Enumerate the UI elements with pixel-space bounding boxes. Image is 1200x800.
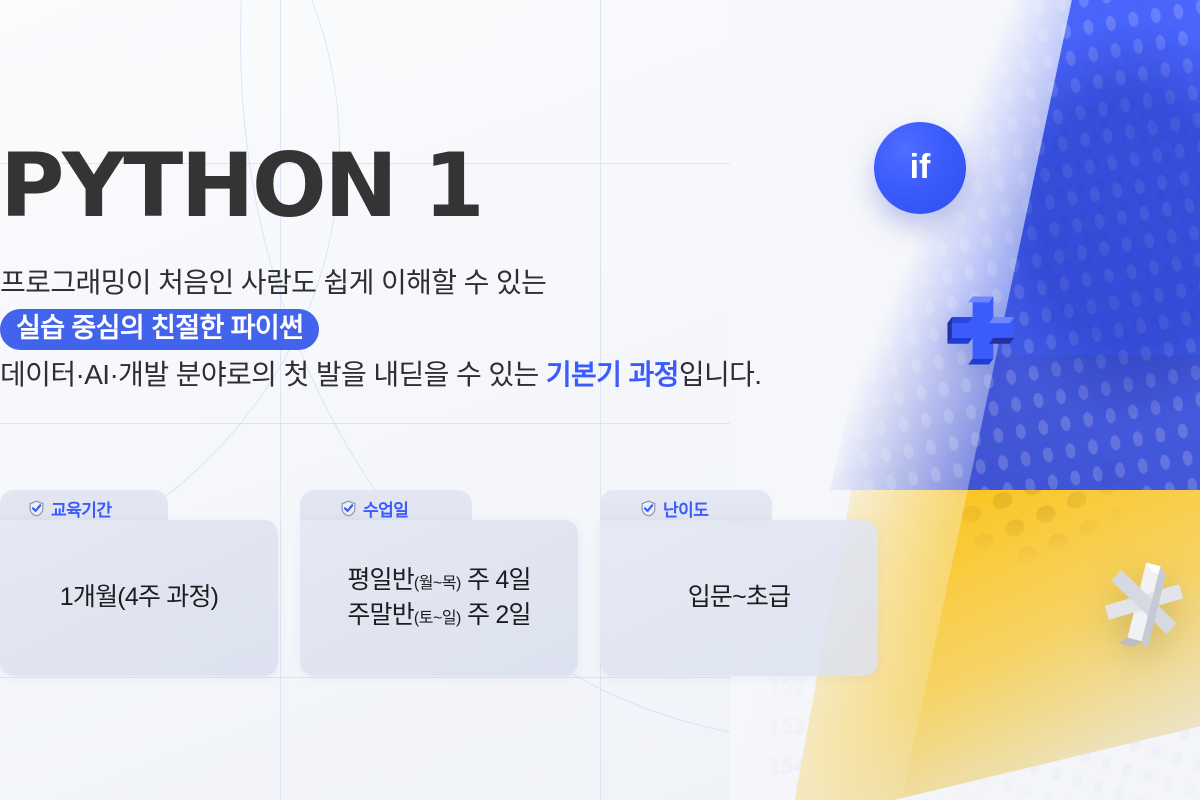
info-card-value: 1개월(4주 과정) — [60, 580, 218, 616]
asterisk-3d-icon — [1098, 556, 1190, 648]
check-badge-icon — [340, 500, 357, 517]
weekend-class-name: 주말반 — [347, 601, 414, 629]
check-badge-icon — [640, 500, 657, 517]
if-keyword-badge: if — [874, 122, 966, 214]
info-card-label: 수업일 — [363, 496, 408, 521]
info-card-classdays: 수업일 평일반(월~목) 주 4일 주말반(토~일) 주 2일 — [300, 490, 578, 676]
weekday-class-name: 평일반 — [347, 566, 414, 594]
info-card-body: 입문~초급 — [600, 520, 878, 676]
if-badge-label: if — [910, 150, 931, 184]
info-card-value: 평일반(월~목) 주 4일 주말반(토~일) 주 2일 — [347, 563, 530, 634]
info-card-group: 교육기간 1개월(4주 과정) 수업일 평일반(월~목) 주 4일 — [0, 490, 900, 680]
subtitle-line-3: 데이터·AI·개발 분야로의 첫 발을 내딛을 수 있는 기본기 과정입니다. — [0, 356, 740, 394]
info-card-difficulty: 난이도 입문~초급 — [600, 490, 878, 676]
hero-illustration: 135 136 137 138 139 140 141 142 143 144 … — [730, 0, 1200, 800]
weekday-class-count: 주 4일 — [461, 566, 531, 594]
page-title: PYTHON 1 — [0, 142, 482, 230]
subtitle-line-3-pre: 데이터·AI·개발 분야로의 첫 발을 내딛을 수 있는 — [0, 359, 546, 390]
info-card-duration: 교육기간 1개월(4주 과정) — [0, 490, 278, 676]
plus-3d-icon — [946, 292, 1020, 366]
check-badge-icon — [28, 500, 45, 517]
subtitle-line-3-accent: 기본기 과정 — [546, 359, 679, 390]
weekend-class-count: 주 2일 — [461, 601, 531, 629]
info-card-body: 1개월(4주 과정) — [0, 520, 278, 676]
subtitle-line-1: 프로그래밍이 처음인 사람도 쉽게 이해할 수 있는 — [0, 264, 740, 302]
hero-subtitle: 프로그래밍이 처음인 사람도 쉽게 이해할 수 있는 실습 중심의 친절한 파이… — [0, 264, 740, 393]
info-card-label: 교육기간 — [51, 496, 112, 521]
subtitle-line-3-post: 입니다. — [679, 359, 762, 390]
hero-content: PYTHON 1 프로그래밍이 처음인 사람도 쉽게 이해할 수 있는 실습 중… — [0, 0, 760, 800]
info-card-label: 난이도 — [663, 496, 708, 521]
info-card-body: 평일반(월~목) 주 4일 주말반(토~일) 주 2일 — [300, 520, 578, 676]
subtitle-pill-row: 실습 중심의 친절한 파이썬 — [0, 302, 740, 356]
info-card-value-line: 주말반(토~일) 주 2일 — [347, 598, 530, 634]
info-card-value-line: 평일반(월~목) 주 4일 — [347, 563, 530, 599]
highlight-pill: 실습 중심의 친절한 파이썬 — [0, 309, 319, 350]
hero-banner: 135 136 137 138 139 140 141 142 143 144 … — [0, 0, 1200, 800]
weekday-class-range: (월~목) — [414, 575, 461, 592]
weekend-class-range: (토~일) — [414, 610, 461, 627]
info-card-value: 입문~초급 — [688, 580, 791, 616]
